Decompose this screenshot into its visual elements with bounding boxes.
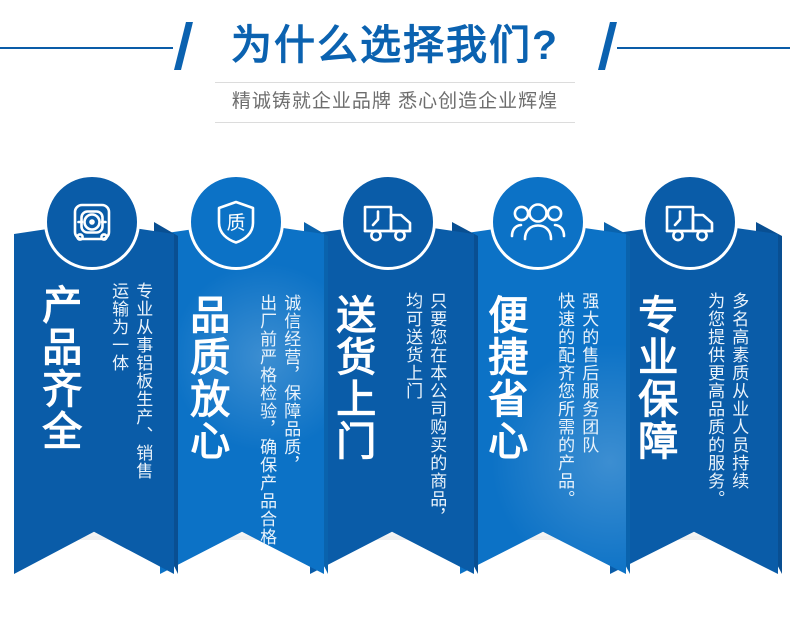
- shield-quality-icon: 质: [188, 174, 284, 270]
- panel-description-line: 多名高素质从业人员持续: [726, 292, 750, 633]
- subtitle-frame: 精诚铸就企业品牌 悉心创造企业辉煌: [215, 82, 575, 123]
- panel-description-line: 出厂前严格检验，确保产品合格: [254, 294, 278, 633]
- panel-description: 强大的售后服务团队快速的配齐您所需的产品。: [552, 292, 600, 633]
- safe-vault-icon: [44, 174, 140, 270]
- panel-headline: 产品齐全: [36, 284, 79, 452]
- svg-text:质: 质: [226, 212, 245, 234]
- why-choose-us-banner: 为什么选择我们? 精诚铸就企业品牌 悉心创造企业辉煌 产品齐全专业从事铝板生产、…: [0, 0, 790, 633]
- page-subtitle: 精诚铸就企业品牌 悉心创造企业辉煌: [215, 90, 575, 114]
- panel-description-line: 只要您在本公司购买的商品，: [424, 292, 448, 633]
- panel-description-line: 强大的售后服务团队: [576, 292, 600, 633]
- delivery-truck-icon: [340, 174, 436, 270]
- panel-description: 专业从事铝板生产、销售运输为一体: [106, 282, 154, 633]
- panel-description-line: 为您提供更高品质的服务。: [702, 292, 726, 633]
- panel-description-line: 均可送货上门: [400, 292, 424, 633]
- panel-description: 多名高素质从业人员持续为您提供更高品质的服务。: [702, 292, 750, 633]
- feature-panel-professional-guarantee[interactable]: 专业保障多名高素质从业人员持续为您提供更高品质的服务。: [610, 222, 778, 574]
- panel-headline: 送货上门: [330, 294, 373, 462]
- panel-description-line: 快速的配齐您所需的产品。: [552, 292, 576, 633]
- team-people-icon: [490, 174, 586, 270]
- panel-description-line: 专业从事铝板生产、销售: [130, 282, 154, 633]
- feature-panel-quality-assured[interactable]: 质品质放心诚信经营，保障品质，出厂前严格检验，确保产品合格: [160, 222, 324, 574]
- feature-panel-product-complete[interactable]: 产品齐全专业从事铝板生产、销售运输为一体: [14, 222, 174, 574]
- panel-headline: 专业保障: [632, 294, 675, 462]
- banner-header: 为什么选择我们? 精诚铸就企业品牌 悉心创造企业辉煌: [0, 0, 790, 170]
- feature-panel-door-delivery[interactable]: 送货上门只要您在本公司购买的商品，均可送货上门: [310, 222, 474, 574]
- panel-description-line: 运输为一体: [106, 282, 130, 633]
- feature-panel-band: 产品齐全专业从事铝板生产、销售运输为一体质品质放心诚信经营，保障品质，出厂前严格…: [0, 170, 790, 633]
- panel-description-line: 诚信经营，保障品质，: [278, 294, 302, 633]
- delivery-truck-icon: [642, 174, 738, 270]
- page-title: 为什么选择我们?: [0, 14, 790, 76]
- panel-headline: 品质放心: [184, 294, 227, 462]
- feature-panel-convenient-worryfree[interactable]: 便捷省心强大的售后服务团队快速的配齐您所需的产品。: [460, 222, 626, 574]
- panel-headline: 便捷省心: [482, 294, 525, 462]
- panel-description: 诚信经营，保障品质，出厂前严格检验，确保产品合格: [254, 294, 302, 633]
- panel-description: 只要您在本公司购买的商品，均可送货上门: [400, 292, 448, 633]
